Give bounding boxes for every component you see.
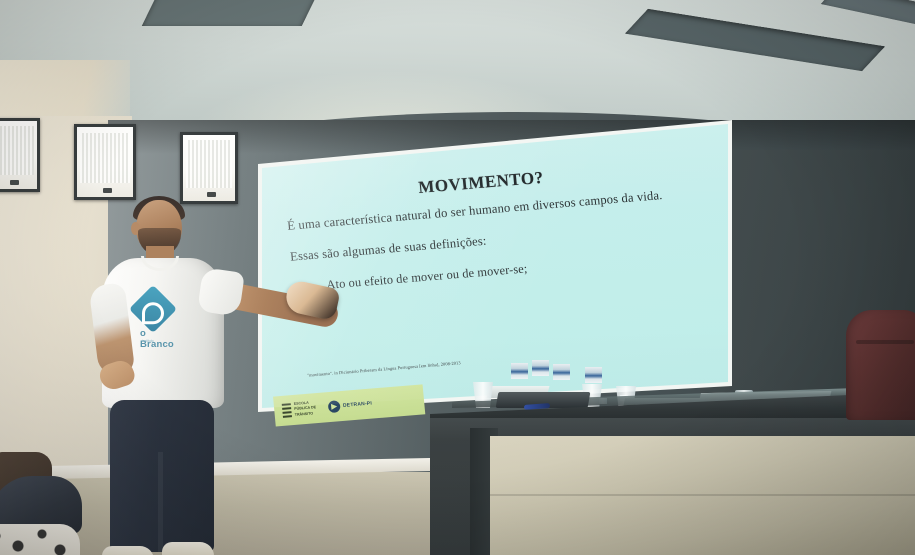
- podium-front-panel: [490, 436, 915, 555]
- detran-label: DETRAN-PI: [343, 401, 372, 409]
- window-pane: [77, 127, 133, 197]
- window-pane: [183, 135, 235, 201]
- red-armchair: [846, 310, 915, 420]
- window-handle-icon: [10, 180, 19, 185]
- window-1: [0, 118, 40, 192]
- window-handle-icon: [103, 188, 112, 193]
- podium-front: [430, 418, 915, 555]
- ceiling-slot-1: [142, 0, 322, 26]
- tshirt-diamond-icon: [129, 285, 177, 333]
- bottle-label: [585, 367, 602, 383]
- tshirt-brand-subtext: instituto: [142, 339, 154, 343]
- detran-pi-logo: DETRAN-PI: [328, 398, 373, 414]
- tshirt-logo: o Branco instituto: [130, 292, 178, 338]
- window-pane: [0, 121, 37, 189]
- slide-title: MOVIMENTO?: [417, 168, 544, 198]
- photo-scene: MOVIMENTO? É uma característica natural …: [0, 0, 915, 555]
- presenter-shoe-right: [162, 542, 214, 555]
- window-3: [180, 132, 238, 204]
- presenter-jeans: [110, 400, 214, 552]
- detran-arrow-icon: [328, 400, 341, 413]
- foreground-person-patterned-item: [0, 524, 80, 555]
- bottle-label: [532, 360, 549, 376]
- bottle-label: [511, 363, 528, 379]
- bottle-label: [553, 364, 570, 380]
- window-2: [74, 124, 136, 200]
- slide-citation: "movimento". in Dicionário Priberam da L…: [307, 360, 461, 378]
- foreground-seated-person: [0, 470, 110, 555]
- slide-bullet-text: Ato ou efeito de mover ou de mover-se;: [326, 261, 528, 292]
